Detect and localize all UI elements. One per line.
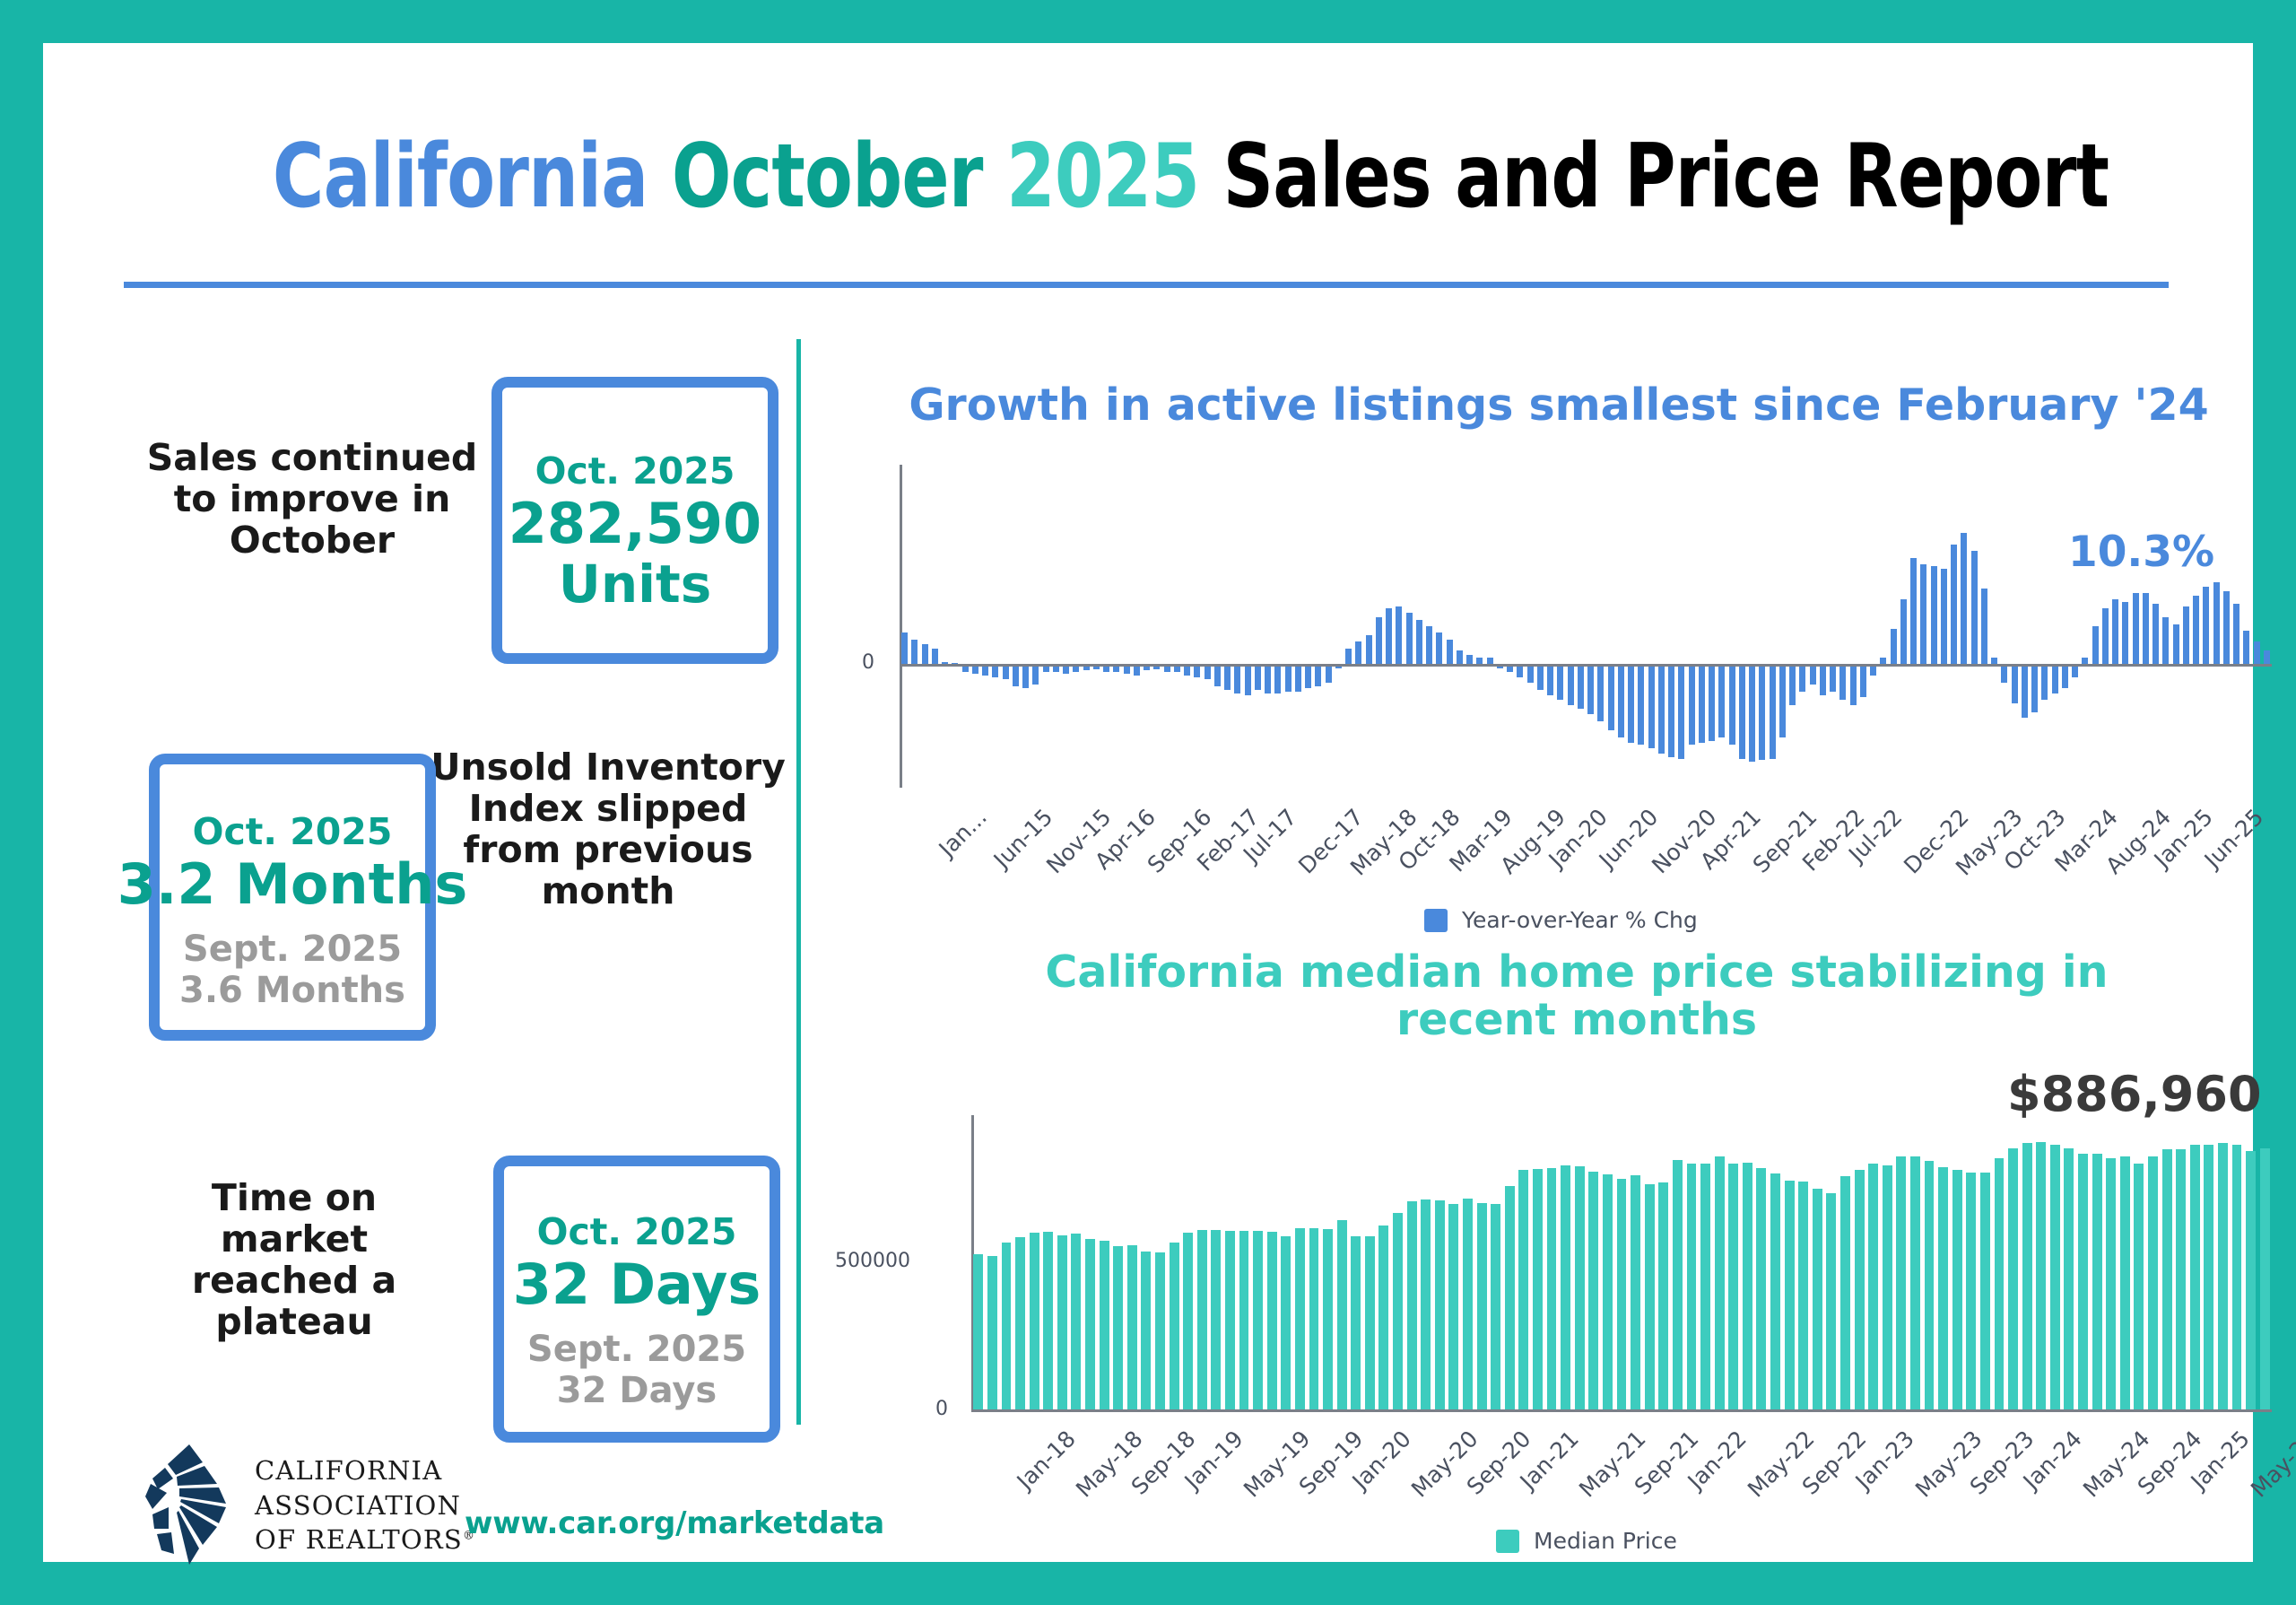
chart1-bar: [1678, 667, 1684, 759]
chart1-bar: [1355, 641, 1361, 664]
chart1-bar: [1174, 667, 1180, 672]
chart1-bar: [2152, 604, 2159, 664]
chart2-bar: [1337, 1220, 1347, 1409]
chart1-bar: [1547, 667, 1553, 695]
chart1-bar: [1839, 667, 1846, 700]
logo-line-1: CALIFORNIA: [255, 1453, 475, 1488]
chart1-bar: [2022, 667, 2028, 718]
chart2-bar: [1141, 1252, 1151, 1409]
chart1-bar: [962, 667, 969, 672]
chart2-bar: [1533, 1169, 1543, 1409]
legend-swatch-icon: [1496, 1530, 1519, 1553]
logo-line-3: OF REALTORS: [255, 1524, 463, 1555]
chart2-bar: [2162, 1149, 2172, 1409]
chart1-bar: [1739, 667, 1745, 759]
chart1-bar: [1436, 632, 1442, 664]
chart2-bar: [1281, 1236, 1291, 1409]
chart2-bar: [1756, 1168, 1766, 1410]
chart2-bar: [1365, 1236, 1375, 1409]
chart1-bar: [1396, 606, 1402, 664]
chart2-bar: [1561, 1165, 1570, 1409]
chart1-bar: [1799, 667, 1805, 692]
chart2-bar: [1491, 1204, 1500, 1409]
chart1-x-tick: Jan...: [934, 804, 992, 862]
chart2-bar: [1883, 1165, 1892, 1409]
chart2-x-tick: May-25: [2246, 1426, 2296, 1503]
chart1-bar: [1164, 667, 1170, 672]
chart2-bar: [1057, 1235, 1067, 1409]
chart1-bar: [1900, 599, 1907, 664]
chart2-bar: [1658, 1182, 1668, 1409]
chart1-bar: [901, 632, 908, 664]
chart1-bar: [2243, 631, 2249, 664]
chart2-bar: [1743, 1163, 1752, 1409]
chart2-bar: [1896, 1156, 1906, 1409]
chart2-bar: [1002, 1243, 1012, 1409]
chart1-bar: [911, 640, 918, 664]
chart1-bar: [1537, 667, 1544, 690]
chart2-bar: [1603, 1174, 1613, 1409]
chart1-bar: [1810, 667, 1816, 685]
chart1-bar: [2223, 591, 2230, 664]
chart2-bar: [1463, 1199, 1473, 1409]
chart1-bar: [942, 662, 948, 664]
chart2-bar: [1393, 1213, 1403, 1409]
chart1-bar: [1830, 667, 1836, 692]
chart1-bar: [1920, 564, 1926, 664]
chart2-bar: [1435, 1200, 1445, 1409]
chart1-bar: [2193, 596, 2199, 664]
stat-box-sales: Oct. 2025 282,590 Units: [491, 377, 778, 664]
chart1-bar: [2143, 593, 2149, 664]
chart2-bar: [1995, 1158, 2005, 1409]
chart1-bar: [1184, 667, 1190, 676]
chart1-bar: [2122, 602, 2128, 664]
chart1-bar: [1245, 667, 1251, 695]
chart1-bar: [1366, 635, 1372, 664]
chart1-bar: [1022, 667, 1029, 688]
chart1-bar: [2183, 606, 2189, 664]
chart2-bar: [2218, 1143, 2228, 1409]
stat-prev-month-label: Sept. 2025: [86, 929, 499, 970]
chart2-bar: [2050, 1145, 2060, 1409]
stat-box-inventory: Oct. 2025 3.2 Months Sept. 2025 3.6 Mont…: [149, 754, 436, 1041]
chart1-bar: [1103, 667, 1109, 672]
chart1-bar: [1820, 667, 1826, 695]
chart1-bar: [922, 644, 928, 664]
chart2-bar: [1715, 1156, 1725, 1409]
chart1-bar: [1658, 667, 1665, 754]
chart2-bar: [1673, 1160, 1683, 1409]
chart1-bar: [1134, 667, 1140, 676]
chart2-bar: [2246, 1151, 2256, 1409]
chart1-bar: [1285, 667, 1291, 692]
chart1-bar: [1608, 667, 1614, 730]
title-part-month: October: [672, 126, 1006, 228]
title-part-california: California: [273, 126, 672, 228]
chart1-bar: [1305, 667, 1311, 688]
chart2-bar: [1826, 1193, 1836, 1409]
chart2-bar: [1183, 1233, 1193, 1409]
chart1-bar: [1497, 667, 1503, 668]
chart2-bar: [1855, 1170, 1865, 1409]
chart1-bar: [952, 663, 958, 665]
chart2-bar: [1421, 1199, 1431, 1409]
chart1-bar: [1426, 626, 1432, 664]
chart2-bar: [1925, 1161, 1935, 1409]
chart1-bar: [1265, 667, 1271, 693]
chart1-bar: [1013, 667, 1019, 686]
chart2-y-tick-500000: 500000: [835, 1250, 910, 1272]
chart1-bar: [2203, 587, 2209, 664]
chart1-bar: [1032, 667, 1039, 685]
chart1-bar: [2052, 667, 2058, 693]
stat-box-time-on-market: Oct. 2025 32 Days Sept. 2025 32 Days: [493, 1156, 780, 1443]
chart1-bar: [1274, 667, 1281, 693]
chart1-bar: [1335, 667, 1342, 668]
chart1-bar: [1376, 617, 1382, 664]
chart1-bar: [1891, 629, 1897, 664]
chart2-y-tick-0: 0: [935, 1398, 948, 1420]
chart2-bar: [1295, 1228, 1305, 1409]
chart2-bar: [2120, 1156, 2130, 1409]
chart2-bar: [2190, 1145, 2200, 1409]
chart1-bar: [1113, 667, 1119, 672]
chart2-bar: [2036, 1142, 2046, 1409]
chart1-bar: [2173, 624, 2179, 664]
chart1-bar: [1557, 667, 1563, 700]
chart2-bar: [2022, 1143, 2032, 1409]
chart1-bar: [1416, 620, 1422, 664]
chart1-bar: [1487, 658, 1493, 664]
chart2-bar: [1015, 1237, 1025, 1409]
chart1-bar: [2041, 667, 2048, 700]
chart1-bar: [1053, 667, 1059, 672]
chart1-bar: [1386, 608, 1392, 664]
chart1-bar: [1093, 667, 1100, 669]
chart1-bar: [1063, 667, 1069, 674]
chart2-bar: [1155, 1252, 1165, 1409]
chart2-bar: [2008, 1148, 2018, 1409]
chart2-bar: [1868, 1164, 1878, 1409]
chart2-bar: [1980, 1173, 1990, 1410]
chart1-bar: [2112, 599, 2118, 664]
chart2-bar: [2078, 1154, 2088, 1409]
chart1-bar: [1124, 667, 1130, 674]
stat-value: 282,590: [429, 493, 841, 554]
chart2-bar: [1700, 1164, 1710, 1409]
title-part-year: 2025: [1006, 126, 1223, 228]
chart2-bar: [1100, 1241, 1109, 1409]
chart1-bar: [1931, 566, 1937, 664]
chart2-bar: [2106, 1158, 2116, 1409]
chart1-bar: [1466, 655, 1473, 664]
chart1-bar: [1779, 667, 1786, 737]
chart-active-listings-yoy: 0 Jan...Jun-15Nov-15Apr-16Sep-16Feb-17Ju…: [900, 465, 2272, 788]
chart2-bar: [2148, 1156, 2158, 1409]
chart1-bar: [1153, 667, 1160, 669]
chart1-bar: [2012, 667, 2018, 703]
chart1-bar: [2162, 617, 2169, 664]
chart2-bar: [2092, 1154, 2102, 1409]
stat-month-label: Oct. 2025: [429, 450, 841, 493]
chart2-bar: [1477, 1203, 1487, 1409]
car-logo-mark-icon: [140, 1443, 240, 1568]
chart1-bar: [1850, 667, 1857, 705]
chart1-bar: [1447, 640, 1453, 664]
chart2-bar: [1813, 1189, 1822, 1409]
chart1-bar: [1073, 667, 1079, 672]
chart-median-home-price: 0 500000 Jan-18May-18Sep-18Jan-19May-19S…: [971, 1115, 2272, 1409]
chart1-bar: [1860, 667, 1866, 697]
chart1-bar: [1638, 667, 1644, 745]
chart2-bar: [1267, 1232, 1277, 1409]
chart2-bar: [973, 1254, 983, 1409]
chart2-annotation-value: $886,960: [2007, 1066, 2262, 1122]
chart1-bar: [2072, 667, 2078, 677]
chart1-bar: [2031, 667, 2038, 712]
chart2-bar: [1113, 1246, 1123, 1409]
blurb-time-on-market: Time on market reached a plateau: [133, 1178, 456, 1343]
chart2-bar: [1225, 1231, 1235, 1409]
chart2-bar: [1351, 1236, 1361, 1409]
chart2-legend-label: Median Price: [1534, 1528, 1677, 1554]
chart2-bar: [1518, 1170, 1528, 1409]
chart2-bar: [2204, 1145, 2213, 1409]
chart1-bar: [1224, 667, 1231, 690]
chart2-bar: [1966, 1173, 1976, 1410]
chart1-bar: [1083, 667, 1090, 670]
chart2-bar: [1588, 1172, 1598, 1409]
stat-value: 32 Days: [430, 1253, 843, 1315]
chart2-bar: [1323, 1229, 1333, 1409]
chart1-bar: [1517, 667, 1523, 677]
chart1-bar: [1770, 667, 1776, 759]
chart1-bar: [2001, 667, 2007, 683]
chart1-bar: [1214, 667, 1221, 686]
chart1-bar: [1870, 667, 1876, 676]
chart2-bar: [1071, 1234, 1081, 1409]
chart2-bar: [987, 1256, 997, 1409]
stat-prev-month-label: Sept. 2025: [430, 1329, 843, 1370]
chart2-bar: [1785, 1181, 1795, 1409]
stat-month-label: Oct. 2025: [430, 1211, 843, 1253]
chart1-bar: [1345, 649, 1352, 664]
chart1-bar: [992, 667, 998, 677]
logo-line-2: ASSOCIATION: [255, 1488, 475, 1523]
marketdata-url-link[interactable]: www.car.org/marketdata: [465, 1505, 884, 1541]
chart1-bar: [2092, 626, 2099, 664]
stat-value: 3.2 Months: [86, 853, 499, 915]
chart1-bar: [1234, 667, 1240, 693]
chart2-bar: [2134, 1164, 2144, 1409]
chart1-title: Growth in active listings smallest since…: [850, 382, 2267, 430]
chart1-bar: [2264, 650, 2270, 664]
chart2-bar: [1631, 1175, 1640, 1409]
chart1-y-axis: [900, 465, 902, 788]
chart2-bar: [1170, 1243, 1179, 1409]
chart2-bar: [1253, 1231, 1263, 1409]
chart2-x-axis: [971, 1409, 2272, 1412]
chart2-bar: [1030, 1233, 1039, 1409]
stat-unit: Units: [429, 555, 841, 614]
chart2-bar: [1309, 1228, 1319, 1409]
page-title: California October 2025 Sales and Price …: [43, 133, 2253, 221]
chart1-legend-label: Year-over-Year % Chg: [1462, 907, 1698, 933]
chart1-bar: [2233, 604, 2239, 664]
chart1-bar: [982, 667, 988, 676]
title-divider-rule: [124, 282, 2169, 288]
infographic-page: California October 2025 Sales and Price …: [0, 0, 2296, 1605]
chart1-bar: [1961, 533, 1967, 664]
chart2-bar: [1645, 1184, 1655, 1409]
stat-prev-value: 32 Days: [430, 1370, 843, 1411]
chart2-bar: [2176, 1149, 2186, 1409]
chart1-bar: [1587, 667, 1594, 714]
chart1-bar: [1699, 667, 1705, 743]
chart2-bar: [1575, 1166, 1585, 1409]
chart1-bar: [1043, 667, 1049, 672]
chart1-bar: [2213, 582, 2220, 664]
chart2-bar: [1798, 1182, 1808, 1409]
chart1-bar: [1597, 667, 1604, 721]
chart1-bar: [1315, 667, 1321, 686]
chart1-bar: [1568, 667, 1574, 705]
chart1-bar: [1981, 589, 1987, 664]
chart1-bar: [1295, 667, 1301, 692]
chart1-bar: [1255, 667, 1261, 690]
chart2-bar: [1211, 1230, 1221, 1409]
chart1-bar: [2082, 658, 2088, 664]
chart1-bar: [1729, 667, 1735, 745]
chart1-bar: [1789, 667, 1796, 705]
chart1-bar: [1144, 667, 1150, 670]
chart2-bar: [1938, 1167, 1948, 1409]
chart2-bar: [1239, 1231, 1249, 1409]
chart1-bar: [1628, 667, 1634, 743]
chart1-bar: [932, 649, 938, 664]
chart1-bar: [1971, 551, 1978, 664]
chart1-bar: [1194, 667, 1200, 677]
chart1-bar: [1003, 667, 1009, 679]
chart2-bar: [1085, 1239, 1095, 1409]
chart1-bar: [1527, 667, 1534, 683]
chart1-bar: [1457, 650, 1463, 664]
chart2-bar: [2064, 1148, 2074, 1409]
chart1-bar: [1618, 667, 1624, 737]
chart2-bar: [2260, 1148, 2270, 1409]
chart1-bar: [1951, 545, 1957, 664]
chart1-bar: [1648, 667, 1655, 748]
chart1-bar: [2133, 593, 2139, 664]
legend-swatch-icon: [1424, 909, 1448, 932]
chart1-annotation-value: 10.3%: [2068, 528, 2214, 577]
infographic-card: California October 2025 Sales and Price …: [43, 43, 2253, 1562]
chart1-bar: [1507, 667, 1513, 672]
title-part-subject: Sales and Price Report: [1223, 126, 2109, 228]
chart2-bar: [1547, 1168, 1557, 1409]
chart2-bar: [1505, 1186, 1515, 1409]
stat-month-label: Oct. 2025: [86, 811, 499, 853]
chart1-bar: [1880, 658, 1886, 664]
chart2-title: California median home price stabilizing…: [994, 949, 2160, 1044]
chart2-bar: [1910, 1156, 1920, 1409]
chart2-bar: [1687, 1164, 1697, 1409]
chart1-bar: [1749, 667, 1755, 762]
chart2-bar: [1407, 1201, 1417, 1409]
chart1-bar: [1718, 667, 1725, 737]
chart1-bar: [1689, 667, 1695, 745]
chart1-bar: [1910, 558, 1917, 664]
chart1-bar: [1406, 613, 1413, 664]
chart1-bar: [1578, 667, 1584, 709]
chart2-bar: [1770, 1173, 1780, 1409]
chart1-bar: [2102, 608, 2109, 664]
chart1-bar: [1991, 658, 1997, 664]
chart2-bar: [1840, 1176, 1850, 1409]
chart1-bar: [1759, 667, 1765, 760]
chart2-bar: [1378, 1226, 1388, 1409]
chart2-bar: [1952, 1170, 1962, 1409]
chart1-y-tick-0: 0: [862, 651, 874, 674]
chart1-bar: [1668, 667, 1674, 757]
chart1-bar: [1941, 569, 1947, 664]
chart1-bar: [1476, 658, 1483, 664]
chart2-bar: [1617, 1179, 1627, 1409]
chart2-bar: [1448, 1204, 1458, 1409]
chart1-bar: [1326, 667, 1332, 683]
chart1-bar: [1205, 667, 1211, 679]
chart1-bar: [972, 667, 978, 674]
car-logo-text: CALIFORNIA ASSOCIATION OF REALTORS®: [255, 1453, 475, 1558]
chart2-bar: [1043, 1232, 1053, 1409]
chart2-bar: [1127, 1245, 1137, 1409]
chart1-bar: [2254, 641, 2260, 664]
chart2-bar: [1197, 1230, 1207, 1409]
chart2-bar: [2232, 1145, 2242, 1409]
chart1-bar: [2062, 667, 2068, 688]
chart1-bar: [1709, 667, 1715, 741]
chart2-legend: Median Price: [1496, 1528, 1677, 1554]
car-logo: CALIFORNIA ASSOCIATION OF REALTORS®: [140, 1443, 445, 1568]
chart1-legend: Year-over-Year % Chg: [1424, 907, 1698, 933]
chart2-bar: [1728, 1164, 1738, 1409]
stat-prev-value: 3.6 Months: [86, 970, 499, 1011]
